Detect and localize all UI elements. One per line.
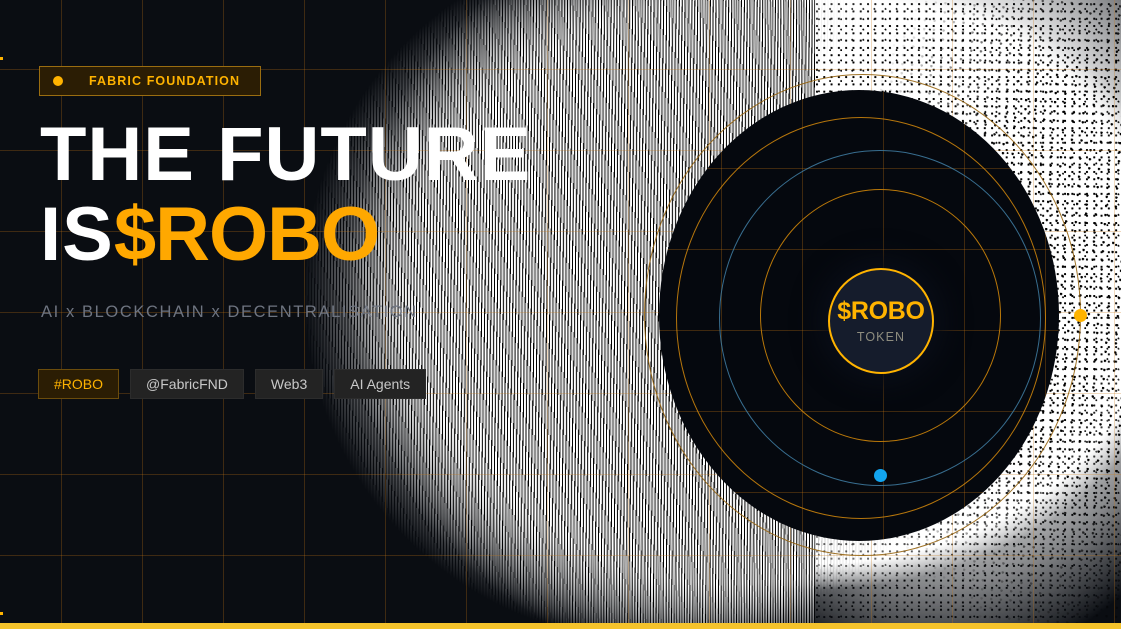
edge-tick-bottom	[0, 612, 3, 615]
brand-badge[interactable]: FABRIC FOUNDATION	[39, 66, 261, 96]
tag-robo[interactable]: #ROBO	[38, 369, 119, 399]
tag-list: #ROBO @FabricFND Web3 AI Agents	[38, 369, 426, 399]
subtitle: AI x BLOCKCHAIN x DECENTRALISATION	[41, 303, 418, 322]
tag-fabricfnd[interactable]: @FabricFND	[130, 369, 244, 399]
tag-web3[interactable]: Web3	[255, 369, 323, 399]
blue-orbit-dot	[874, 469, 887, 482]
headline-line-1: THE FUTURE	[40, 120, 531, 190]
edge-tick-top	[0, 57, 3, 60]
orange-orbit-dot	[1074, 309, 1087, 322]
headline-token: $ROBO	[114, 192, 379, 277]
bottom-accent-bar	[0, 623, 1121, 629]
token-badge[interactable]: $ROBO TOKEN	[828, 268, 934, 374]
token-label: TOKEN	[857, 331, 905, 344]
dot-icon	[53, 76, 63, 86]
hero-stage: $ROBO TOKEN FABRIC FOUNDATION THE FUTURE…	[0, 0, 1121, 629]
tag-ai-agents[interactable]: AI Agents	[334, 369, 426, 399]
page-title: THE FUTURE IS$ROBO	[40, 120, 531, 270]
headline-line-2: IS$ROBO	[40, 200, 531, 270]
token-symbol: $ROBO	[837, 299, 924, 324]
headline-prefix: IS	[40, 192, 114, 277]
brand-badge-label: FABRIC FOUNDATION	[89, 74, 240, 88]
